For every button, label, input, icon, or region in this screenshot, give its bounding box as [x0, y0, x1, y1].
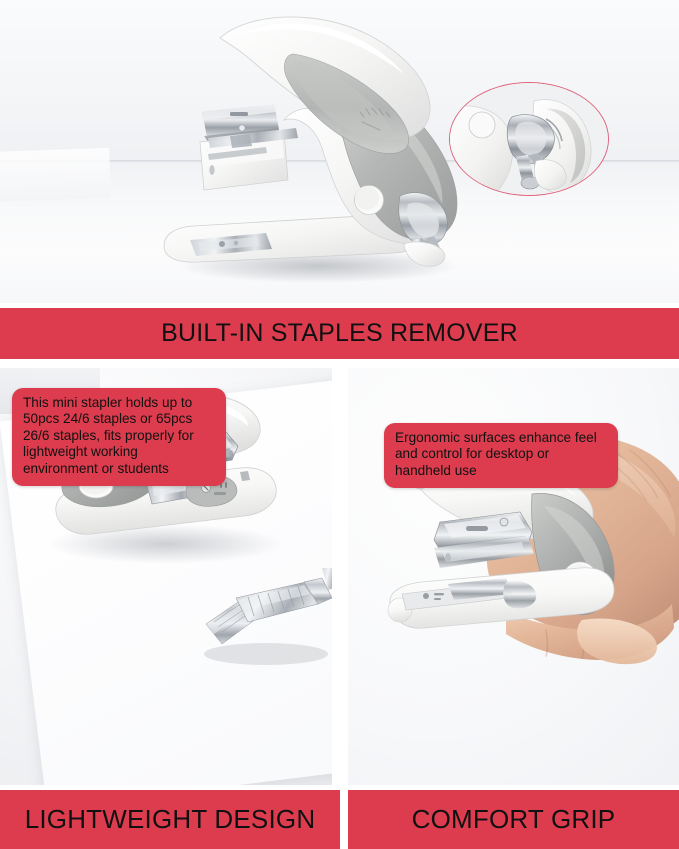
- staple-remover-detail-image: [450, 83, 608, 195]
- staple-remover-detail-inset: [449, 82, 609, 196]
- banner-label: BUILT-IN STAPLES REMOVER: [161, 319, 518, 348]
- stapler-product-image: [146, 8, 476, 293]
- banner-label: COMFORT GRIP: [412, 804, 616, 835]
- gutter-bottom: [0, 785, 679, 790]
- banner-comfort-grip: COMFORT GRIP: [348, 789, 679, 849]
- photo-panel-staples-remover: [0, 0, 679, 305]
- callout-text: This mini stapler holds up to 50pcs 24/6…: [23, 395, 215, 477]
- photo-paper-sheet: [0, 148, 111, 202]
- banner-label: LIGHTWEIGHT DESIGN: [25, 804, 316, 835]
- banner-lightweight-design: LIGHTWEIGHT DESIGN: [0, 789, 340, 849]
- product-infographic: BUILT-IN STAPLES REMOVER: [0, 0, 679, 849]
- gutter-vertical: [332, 360, 348, 790]
- callout-text: Ergonomic surfaces enhance feel and cont…: [395, 430, 607, 479]
- banner-built-in-staples-remover: BUILT-IN STAPLES REMOVER: [0, 307, 679, 359]
- callout-lightweight-capacity: This mini stapler holds up to 50pcs 24/6…: [12, 388, 226, 486]
- gutter-top: [0, 303, 679, 308]
- callout-ergonomic-surfaces: Ergonomic surfaces enhance feel and cont…: [384, 423, 618, 488]
- staple-strip-image: [200, 568, 332, 678]
